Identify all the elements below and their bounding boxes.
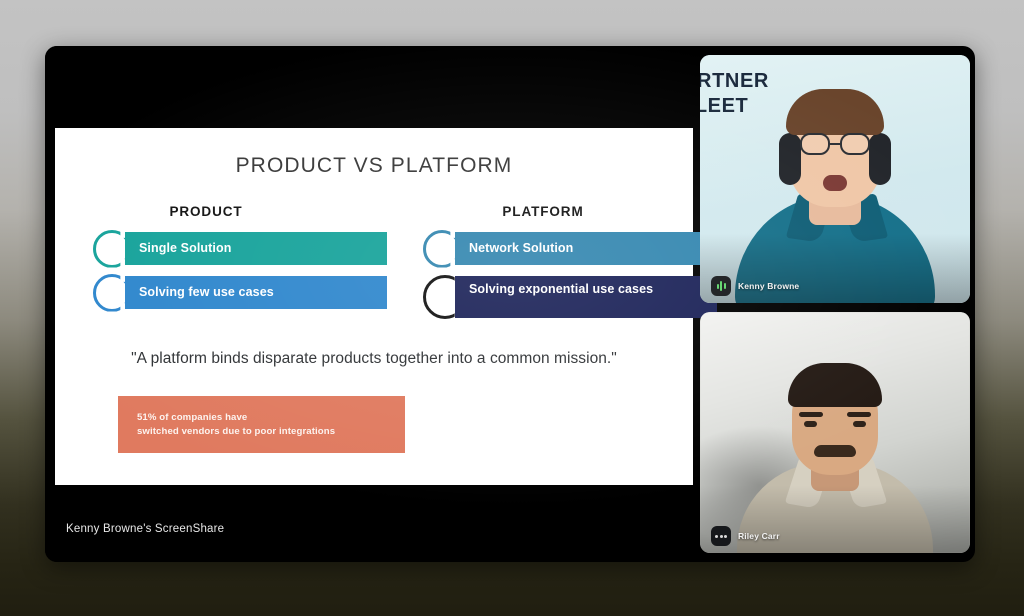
slide-quote: "A platform binds disparate products tog… <box>55 350 693 368</box>
presentation-slide: PRODUCT VS PLATFORM PRODUCT Single Solut… <box>55 128 693 485</box>
product-bar-2-label: Solving few use cases <box>139 285 274 300</box>
participant-tile-kenny-browne[interactable]: ARTNER FLEET <box>700 55 970 303</box>
product-bar-2: Solving few use cases <box>125 276 387 309</box>
platform-bar-2-label: Solving exponential use cases <box>469 282 653 297</box>
participant-name-riley: Riley Carr <box>738 531 780 541</box>
column-heading-platform: PLATFORM <box>417 204 717 219</box>
product-bar-1-label: Single Solution <box>139 241 231 256</box>
product-row-2: Solving few use cases <box>87 276 387 309</box>
mic-active-icon[interactable] <box>711 276 731 296</box>
product-bar-1: Single Solution <box>125 232 387 265</box>
slide-title: PRODUCT VS PLATFORM <box>55 154 693 178</box>
platform-bar-1-label: Network Solution <box>469 241 573 256</box>
brand-backdrop-text: ARTNER FLEET <box>700 69 769 119</box>
platform-bar-1: Network Solution <box>455 232 717 265</box>
desktop-background: PRODUCT VS PLATFORM PRODUCT Single Solut… <box>0 0 1024 616</box>
screenshare-region[interactable]: PRODUCT VS PLATFORM PRODUCT Single Solut… <box>45 46 700 562</box>
column-platform: PLATFORM Network Solution Solving expone… <box>417 204 717 329</box>
platform-row-2: Solving exponential use cases <box>417 276 717 318</box>
column-product: PRODUCT Single Solution Solving few use … <box>87 204 387 320</box>
participant-badge-kenny: Kenny Browne <box>711 276 799 296</box>
brand-line-1: ARTNER <box>700 69 769 94</box>
brand-line-2: FLEET <box>700 94 769 119</box>
platform-bar-2: Solving exponential use cases <box>455 276 717 318</box>
participant-tile-riley-carr[interactable]: Riley Carr <box>700 312 970 553</box>
platform-row-1: Network Solution <box>417 232 717 265</box>
statistic-callout: 51% of companies have switched vendors d… <box>118 396 405 453</box>
participant-badge-riley: Riley Carr <box>711 526 780 546</box>
participant-name-kenny: Kenny Browne <box>738 281 799 291</box>
column-heading-product: PRODUCT <box>87 204 387 219</box>
screenshare-owner-label: Kenny Browne's ScreenShare <box>66 523 224 535</box>
mic-muted-icon[interactable] <box>711 526 731 546</box>
statistic-line-2: switched vendors due to poor integration… <box>137 425 405 439</box>
product-row-1: Single Solution <box>87 232 387 265</box>
video-meeting-window: PRODUCT VS PLATFORM PRODUCT Single Solut… <box>45 46 975 562</box>
statistic-line-1: 51% of companies have <box>137 411 405 425</box>
comparison-columns: PRODUCT Single Solution Solving few use … <box>55 204 693 344</box>
